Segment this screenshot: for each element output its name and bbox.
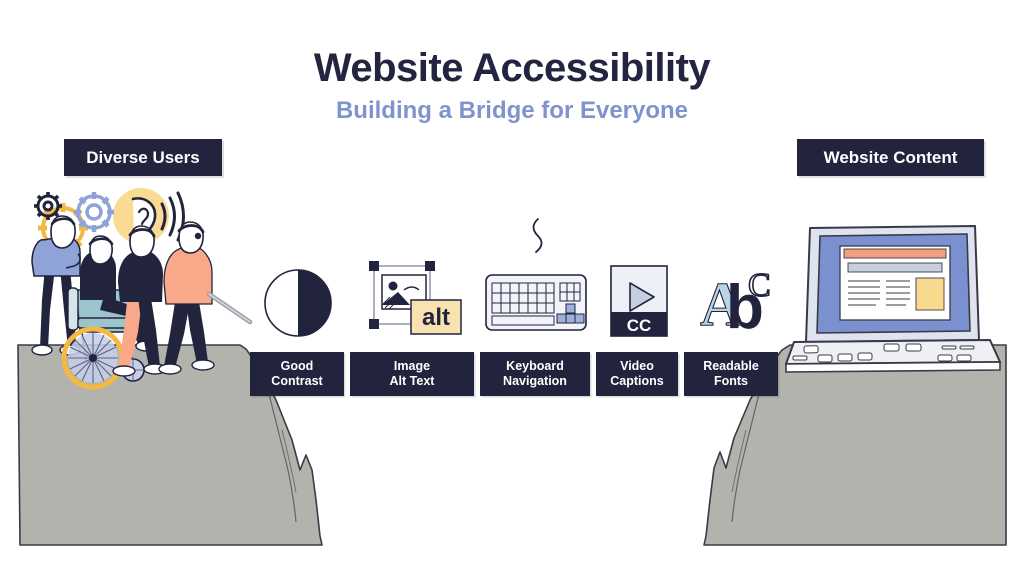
bridge-feature-icons: alt bbox=[0, 0, 1024, 569]
label-diverse-users: Diverse Users bbox=[64, 139, 222, 176]
infographic-canvas: Website Accessibility Building a Bridge … bbox=[0, 0, 1024, 569]
bridge-plank-label: GoodContrast bbox=[265, 359, 328, 389]
image-alt-text-icon: alt bbox=[369, 261, 461, 334]
bridge-plank-label: VideoCaptions bbox=[604, 359, 669, 389]
readable-fonts-icon: A b C bbox=[700, 267, 771, 342]
bridge-plank-keyboard-navigation: KeyboardNavigation bbox=[480, 352, 590, 396]
bridge-plank-label: ReadableFonts bbox=[697, 359, 765, 389]
contrast-circle-icon bbox=[265, 270, 331, 336]
svg-text:CC: CC bbox=[627, 316, 652, 335]
svg-text:alt: alt bbox=[422, 304, 450, 331]
bridge-plank-label: KeyboardNavigation bbox=[497, 359, 573, 389]
label-website-content: Website Content bbox=[797, 139, 984, 176]
video-captions-icon: CC bbox=[611, 266, 667, 336]
bridge-plank-image-alt-text: ImageAlt Text bbox=[350, 352, 474, 396]
bridge-plank-video-captions: VideoCaptions bbox=[596, 352, 678, 396]
bridge-plank-label: ImageAlt Text bbox=[384, 359, 441, 389]
bridge-plank-readable-fonts: ReadableFonts bbox=[684, 352, 778, 396]
keyboard-icon bbox=[486, 219, 586, 330]
bridge-plank-good-contrast: GoodContrast bbox=[250, 352, 344, 396]
letter-c: C bbox=[748, 267, 771, 304]
